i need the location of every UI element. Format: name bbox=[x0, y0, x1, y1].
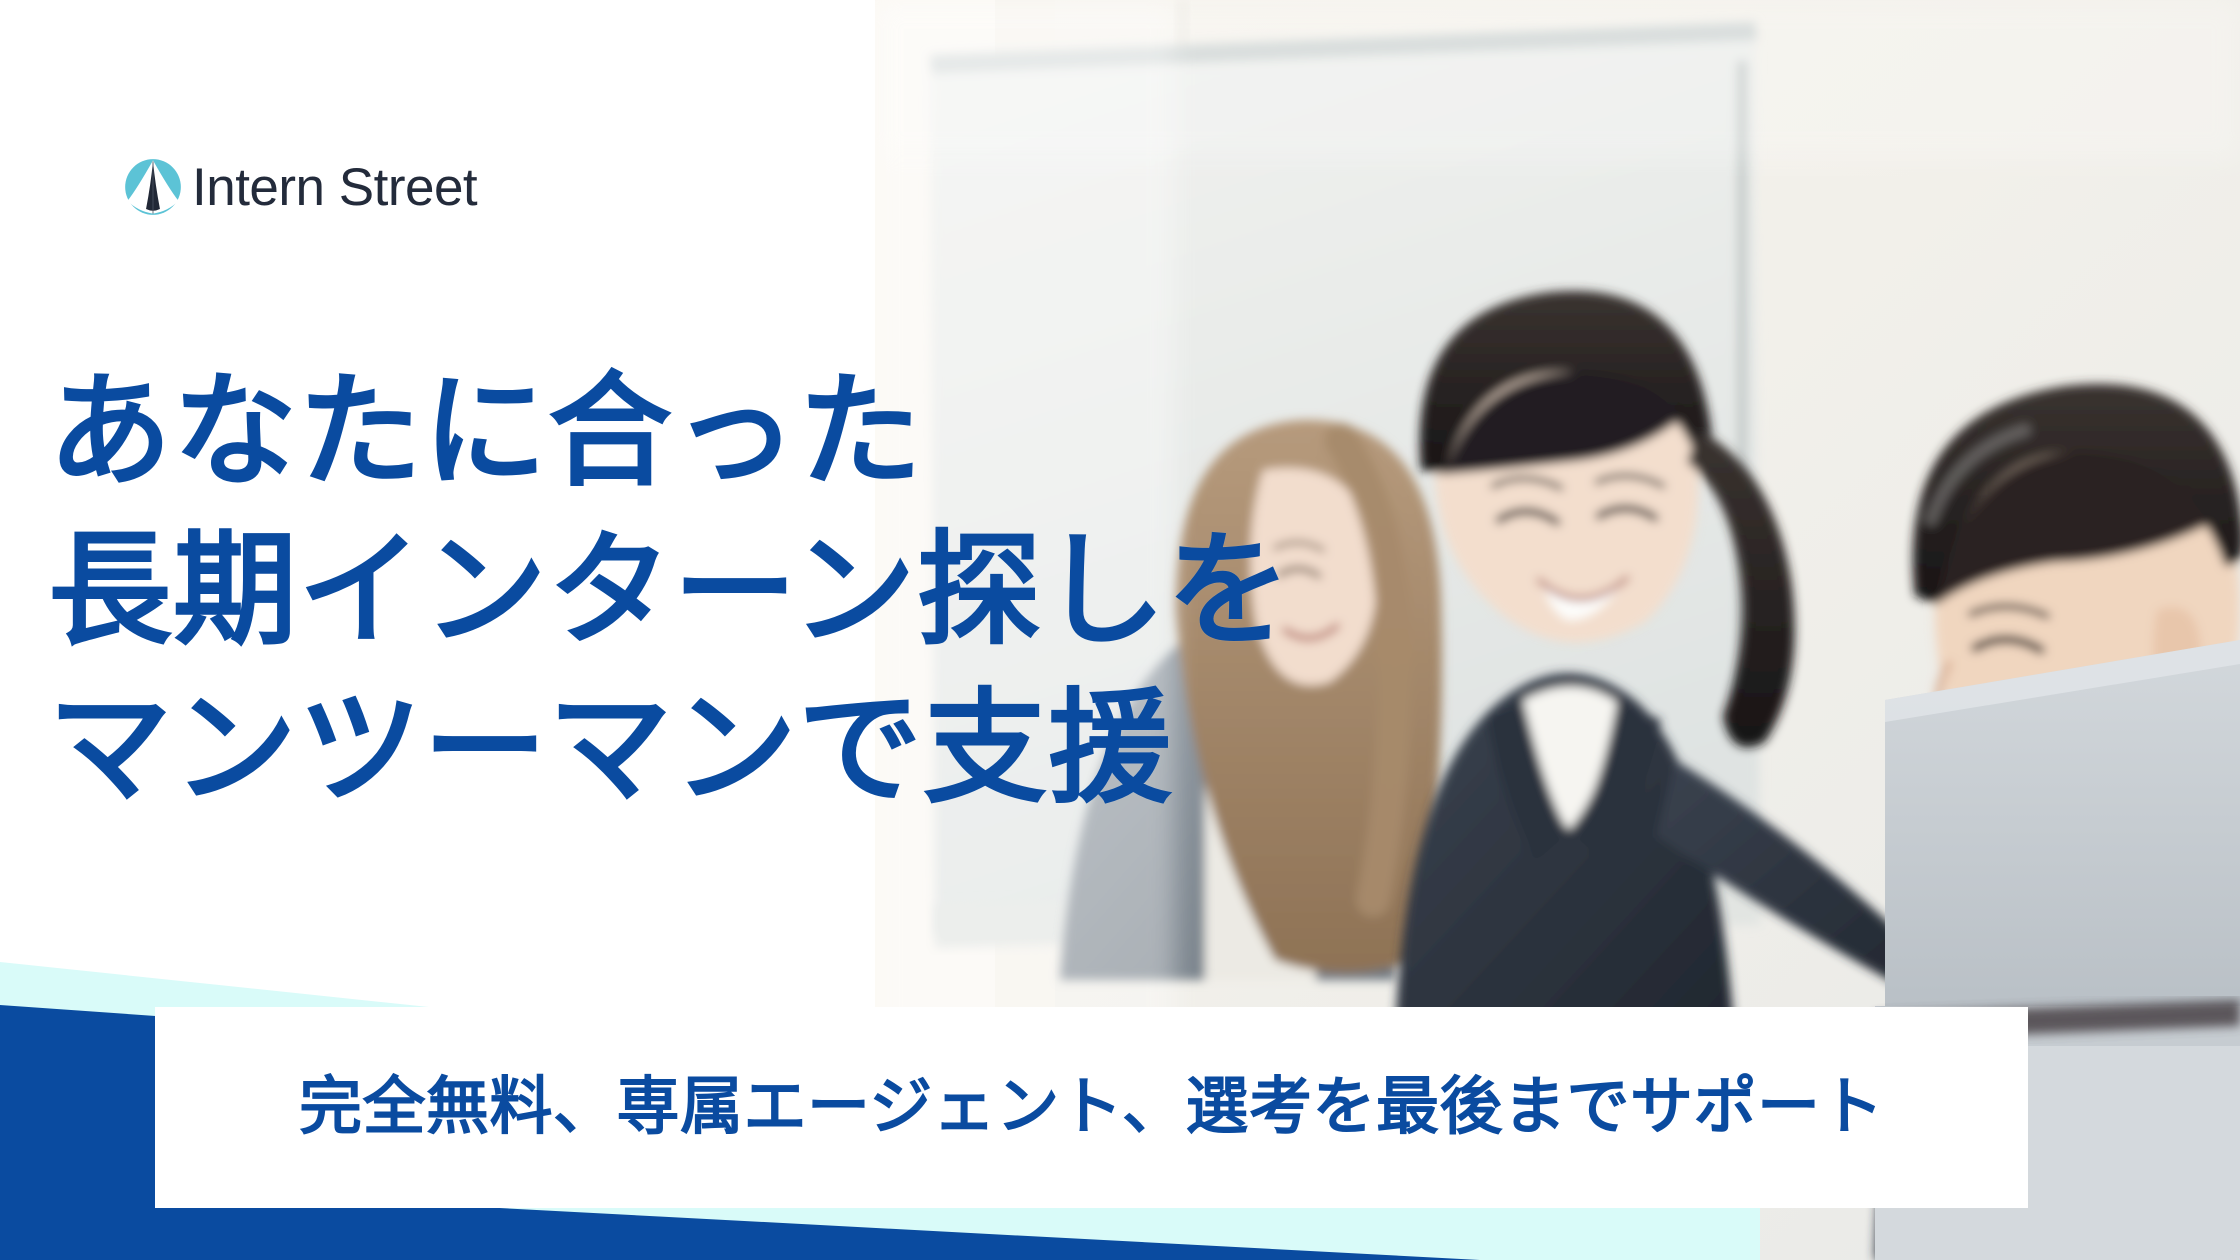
headline-line-1: あなたに合った bbox=[48, 353, 1292, 512]
hero-headline: あなたに合った 長期インターン探しを マンツーマンで支援 bbox=[48, 353, 1292, 829]
headline-line-3: マンツーマンで支援 bbox=[48, 670, 1292, 829]
callout-bar: 完全無料、専属エージェント、選考を最後までサポート bbox=[155, 1007, 2028, 1208]
brand-logo[interactable]: Intern Street bbox=[124, 158, 477, 216]
headline-line-2: 長期インターン探しを bbox=[48, 512, 1292, 671]
callout-text: 完全無料、専属エージェント、選考を最後までサポート bbox=[299, 1076, 1884, 1139]
street-spire-circle-icon bbox=[124, 158, 182, 216]
brand-wordmark: Intern Street bbox=[192, 161, 477, 214]
hero-banner: Intern Street あなたに合った 長期インターン探しを マンツーマンで… bbox=[0, 0, 2240, 1260]
